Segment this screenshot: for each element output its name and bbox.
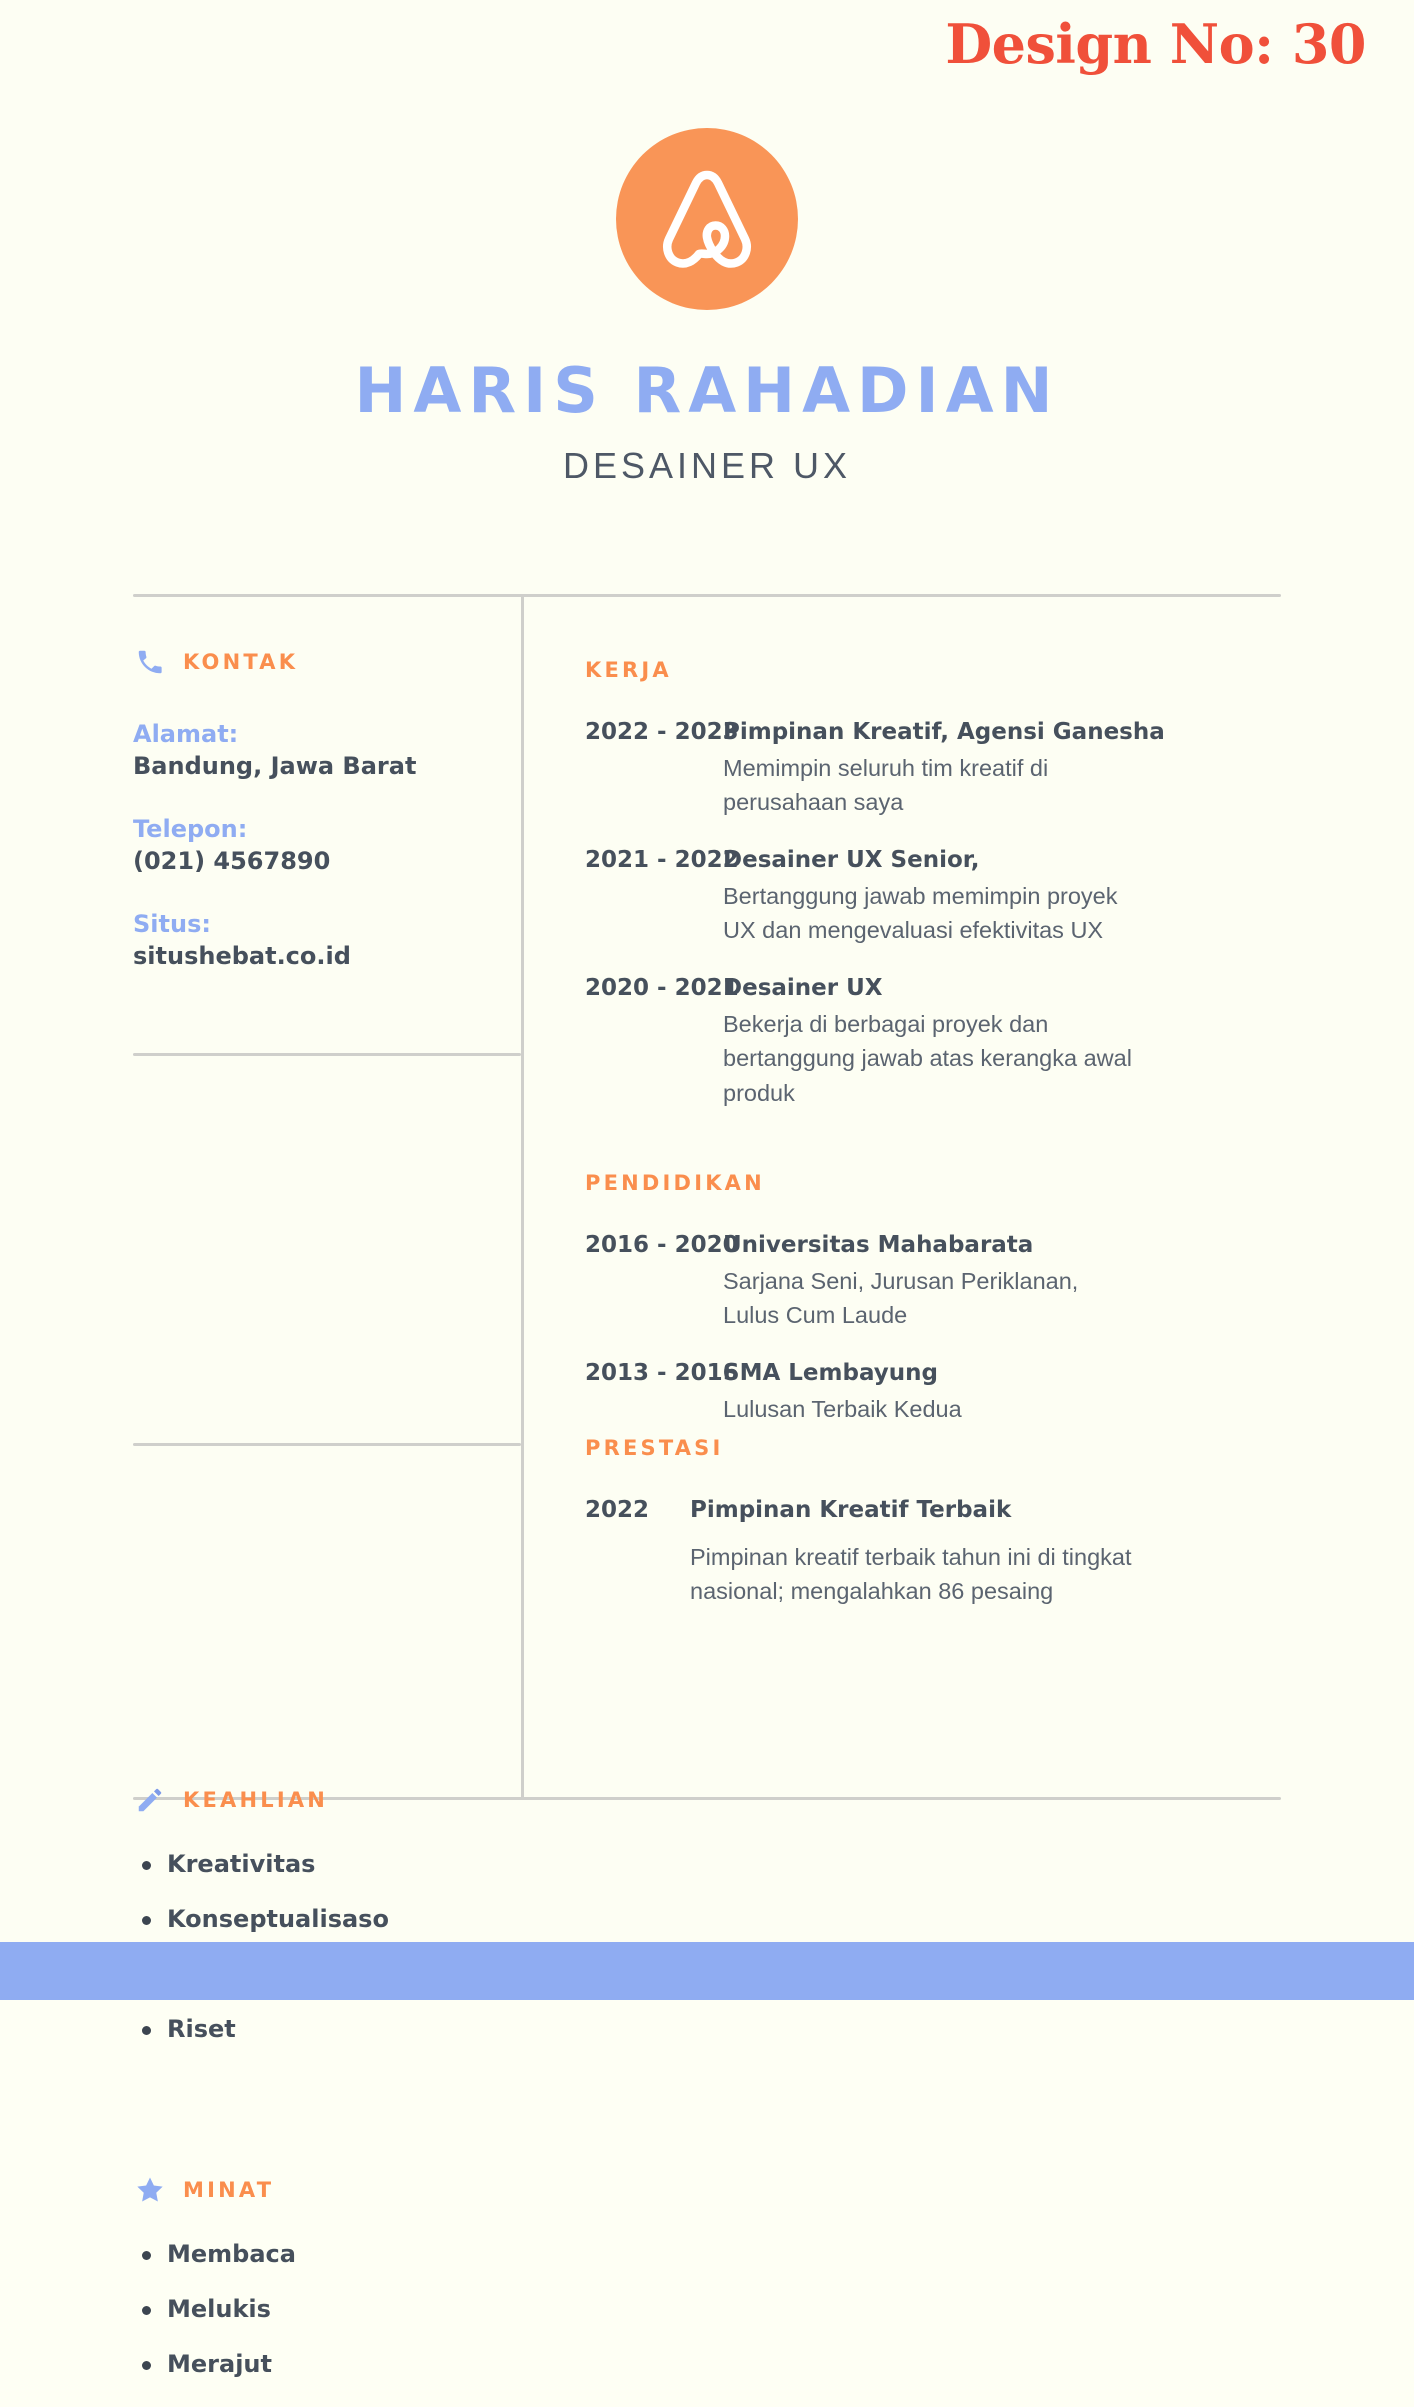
name-title-block: HARIS RAHADIAN DESAINER UX <box>0 360 1414 484</box>
achievement-entries: 2022 Pimpinan Kreatif Terbaik Pimpinan k… <box>585 1495 1265 1608</box>
entry-description: Sarjana Seni, Jurusan Periklanan, Lulus … <box>723 1264 1265 1332</box>
contact-section: KONTAK Alamat: Bandung, Jawa Barat Telep… <box>133 640 505 972</box>
entry-description: Pimpinan kreatif terbaik tahun ini di ti… <box>690 1540 1265 1608</box>
sidebar-divider-2 <box>133 1443 521 1446</box>
star-icon <box>133 2174 167 2206</box>
contact-item: Telepon: (021) 4567890 <box>133 813 505 878</box>
logo-circle <box>616 128 798 310</box>
entry-body: SMA Lembayung Lulusan Terbaik Kedua <box>723 1358 1265 1426</box>
skills-heading: KEAHLIAN <box>183 1788 328 1812</box>
work-heading: KERJA <box>585 660 1265 681</box>
entry-period: 2022 - 2023 <box>585 717 723 748</box>
entry-description: Bekerja di berbagai proyek dan bertanggu… <box>723 1007 1265 1109</box>
entry-description: Memimpin seluruh tim kreatif di perusaha… <box>723 751 1265 819</box>
work-entry: 2020 - 2021 Desainer UX Bekerja di berba… <box>585 973 1265 1109</box>
entry-body: Desainer UX Bekerja di berbagai proyek d… <box>723 973 1265 1109</box>
list-item: Riset <box>167 2017 505 2041</box>
airbnb-belo-logo-icon <box>655 165 759 273</box>
entry-description: Lulusan Terbaik Kedua <box>723 1392 1265 1426</box>
contact-list: Alamat: Bandung, Jawa Barat Telepon: (02… <box>133 718 505 972</box>
interests-section: MINAT Membaca Melukis Merajut <box>133 2168 505 2407</box>
entry-body: Pimpinan Kreatif Terbaik Pimpinan kreati… <box>690 1495 1265 1608</box>
pencil-icon <box>133 1785 167 1815</box>
work-entry: 2021 - 2022 Desainer UX Senior, Bertangg… <box>585 845 1265 947</box>
entry-body: Pimpinan Kreatif, Agensi Ganesha Memimpi… <box>723 717 1265 819</box>
contact-item: Alamat: Bandung, Jawa Barat <box>133 718 505 783</box>
entry-title: Pimpinan Kreatif Terbaik <box>690 1495 1265 1526</box>
entry-period: 2020 - 2021 <box>585 973 723 1004</box>
entry-title: Universitas Mahabarata <box>723 1230 1265 1261</box>
contact-label: Alamat: <box>133 718 505 750</box>
contact-heading-row: KONTAK <box>133 640 505 684</box>
entry-period: 2022 <box>585 1495 690 1526</box>
work-section: KERJA 2022 - 2023 Pimpinan Kreatif, Agen… <box>585 660 1265 1136</box>
list-item: Merajut <box>167 2352 505 2376</box>
person-name: HARIS RAHADIAN <box>0 360 1414 422</box>
contact-value: Bandung, Jawa Barat <box>133 750 505 782</box>
work-entry: 2022 - 2023 Pimpinan Kreatif, Agensi Gan… <box>585 717 1265 819</box>
entry-title: SMA Lembayung <box>723 1358 1265 1389</box>
entry-period: 2013 - 2016 <box>585 1358 723 1389</box>
education-entry: 2013 - 2016 SMA Lembayung Lulusan Terbai… <box>585 1358 1265 1426</box>
entry-title: Pimpinan Kreatif, Agensi Ganesha <box>723 717 1265 748</box>
entry-period: 2016 - 2020 <box>585 1230 723 1261</box>
education-heading: PENDIDIKAN <box>585 1173 1265 1194</box>
skills-heading-row: KEAHLIAN <box>133 1778 505 1822</box>
list-item: Kreativitas <box>167 1852 505 1876</box>
list-item: Melukis <box>167 2297 505 2321</box>
entry-body: Universitas Mahabarata Sarjana Seni, Jur… <box>723 1230 1265 1332</box>
resume-page: Design No: 30 HARIS RAHADIAN DESAINER UX <box>0 0 1414 2000</box>
person-role: DESAINER UX <box>0 448 1414 484</box>
education-entry: 2016 - 2020 Universitas Mahabarata Sarja… <box>585 1230 1265 1332</box>
bottom-color-band <box>0 1942 1414 2000</box>
work-entries: 2022 - 2023 Pimpinan Kreatif, Agensi Gan… <box>585 717 1265 1110</box>
entry-title: Desainer UX Senior, <box>723 845 1265 876</box>
entry-body: Desainer UX Senior, Bertanggung jawab me… <box>723 845 1265 947</box>
list-item: Konseptualisaso <box>167 1907 505 1931</box>
skills-section: KEAHLIAN Kreativitas Konseptualisaso Wir… <box>133 1778 505 2072</box>
sidebar: KONTAK Alamat: Bandung, Jawa Barat Telep… <box>133 640 505 1002</box>
entry-description: Bertanggung jawab memimpin proyek UX dan… <box>723 879 1265 947</box>
sidebar-divider-1 <box>133 1053 521 1056</box>
achievements-section: PRESTASI 2022 Pimpinan Kreatif Terbaik P… <box>585 1438 1265 1634</box>
interests-list: Membaca Melukis Merajut <box>133 2242 505 2376</box>
education-section: PENDIDIKAN 2016 - 2020 Universitas Mahab… <box>585 1173 1265 1452</box>
logo-container <box>0 128 1414 310</box>
education-entries: 2016 - 2020 Universitas Mahabarata Sarja… <box>585 1230 1265 1426</box>
design-number-badge: Design No: 30 <box>945 12 1366 76</box>
achievements-heading: PRESTASI <box>585 1438 1265 1459</box>
phone-icon <box>133 647 167 677</box>
column-divider <box>521 594 524 1800</box>
contact-value: (021) 4567890 <box>133 845 505 877</box>
list-item: Membaca <box>167 2242 505 2266</box>
interests-heading-row: MINAT <box>133 2168 505 2212</box>
contact-item: Situs: situshebat.co.id <box>133 908 505 973</box>
contact-label: Telepon: <box>133 813 505 845</box>
entry-title: Desainer UX <box>723 973 1265 1004</box>
contact-heading: KONTAK <box>183 650 298 674</box>
top-divider <box>133 594 1281 597</box>
achievement-entry: 2022 Pimpinan Kreatif Terbaik Pimpinan k… <box>585 1495 1265 1608</box>
contact-value[interactable]: situshebat.co.id <box>133 940 505 972</box>
entry-period: 2021 - 2022 <box>585 845 723 876</box>
interests-heading: MINAT <box>183 2178 274 2202</box>
contact-label: Situs: <box>133 908 505 940</box>
